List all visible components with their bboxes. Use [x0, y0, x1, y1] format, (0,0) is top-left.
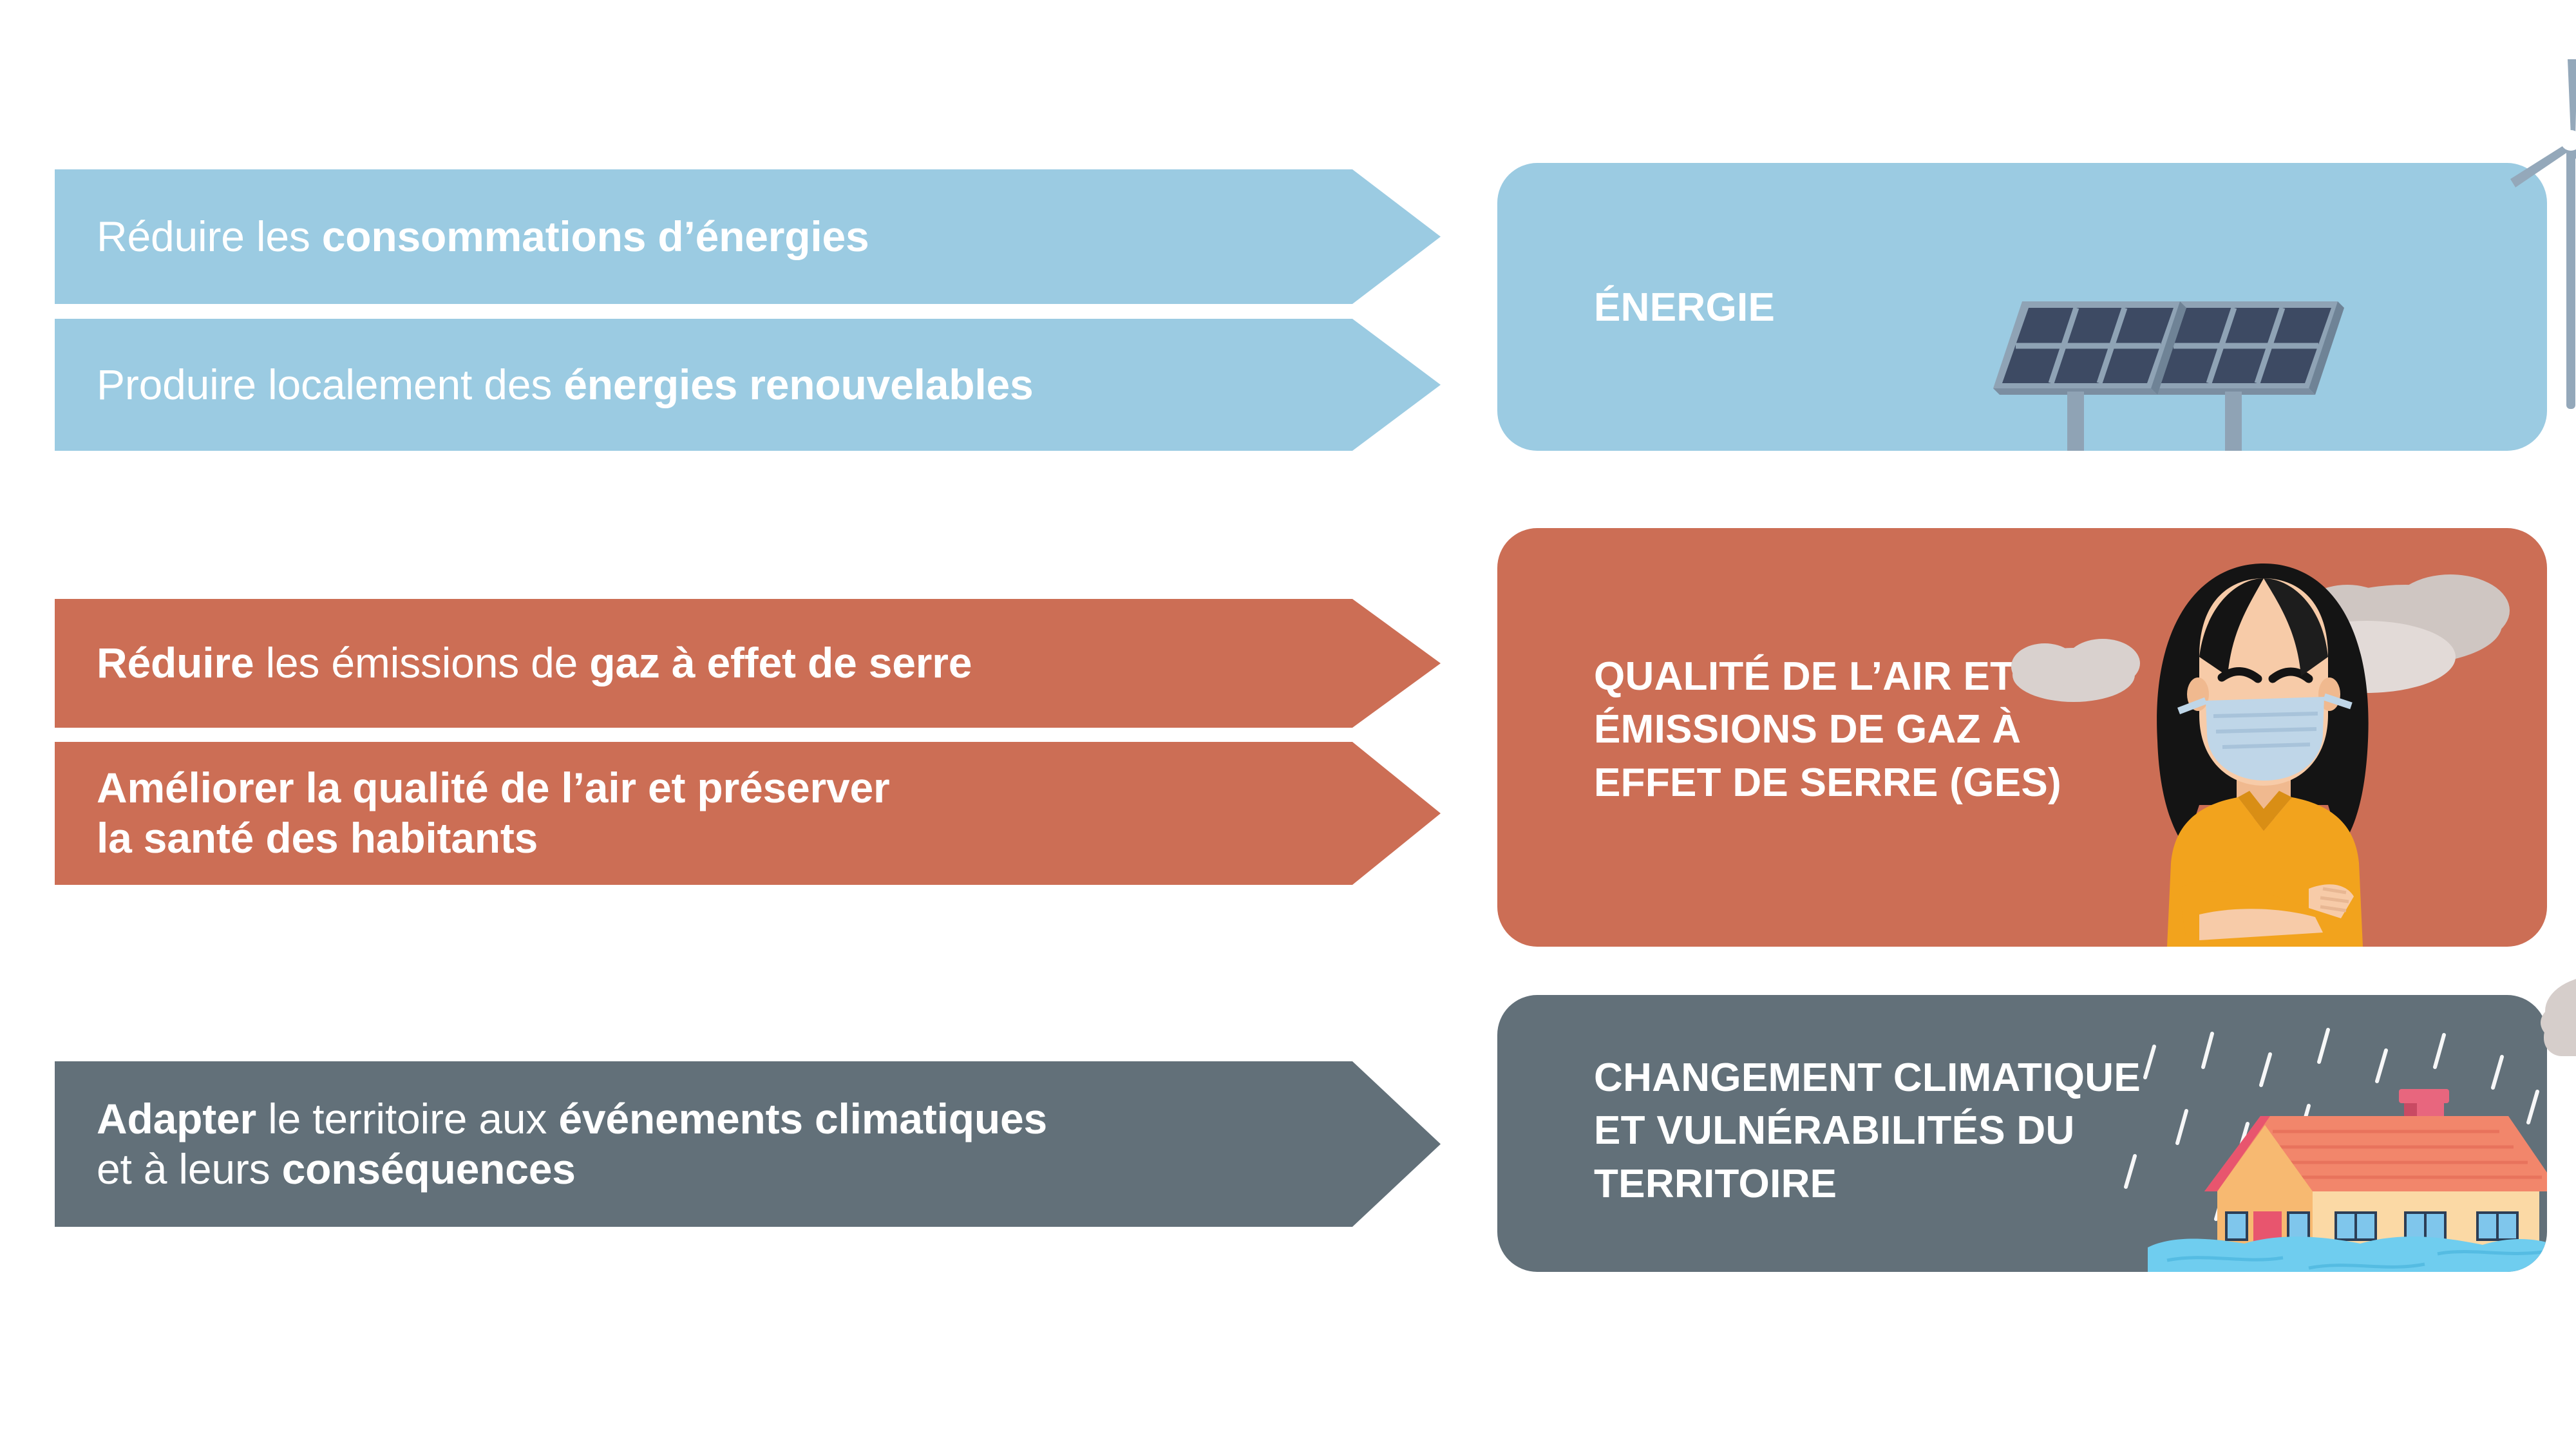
woman-with-mask-illustration	[2006, 528, 2547, 947]
flooded-house-icon	[2148, 1085, 2547, 1272]
arrow-produire-energies-renouvelables[interactable]: Produire localement des énergies renouve…	[55, 319, 1441, 451]
arrow-label: Améliorer la qualité de l’air et préserv…	[55, 763, 890, 864]
panel-title: QUALITÉ DE L’AIR ET ÉMISSIONS DE GAZ À E…	[1594, 650, 2061, 810]
arrow-label: Réduire les consommations d’énergies	[55, 212, 869, 262]
arrow-reduire-consommations[interactable]: Réduire les consommations d’énergies	[55, 169, 1441, 304]
rain-icon	[2116, 995, 2547, 1272]
infographic-canvas: Réduire les consommations d’énergies Pro…	[0, 0, 2576, 1449]
face-mask	[2206, 697, 2324, 781]
panel-title: ÉNERGIE	[1594, 284, 1775, 332]
arrow-label: Adapter le territoire aux événements cli…	[55, 1094, 1047, 1195]
arrow-label: Réduire les émissions de gaz à effet de …	[55, 638, 972, 688]
panel-changement-climatique[interactable]: CHANGEMENT CLIMATIQUE ET VULNÉRABILITÉS …	[1497, 995, 2547, 1272]
arrow-adapter-territoire[interactable]: Adapter le territoire aux événements cli…	[55, 1061, 1441, 1227]
panel-energie[interactable]: ÉNERGIE	[1497, 163, 2547, 451]
arrow-label: Produire localement des énergies renouve…	[55, 360, 1034, 410]
arrow-reduire-emissions-ges[interactable]: Réduire les émissions de gaz à effet de …	[55, 599, 1441, 728]
panel-title: CHANGEMENT CLIMATIQUE ET VULNÉRABILITÉS …	[1594, 1052, 2141, 1211]
solar-panels-icon	[1987, 292, 2347, 451]
arrow-ameliorer-qualite-air[interactable]: Améliorer la qualité de l’air et préserv…	[55, 742, 1441, 885]
panel-qualite-air-ges[interactable]: QUALITÉ DE L’AIR ET ÉMISSIONS DE GAZ À E…	[1497, 528, 2547, 947]
